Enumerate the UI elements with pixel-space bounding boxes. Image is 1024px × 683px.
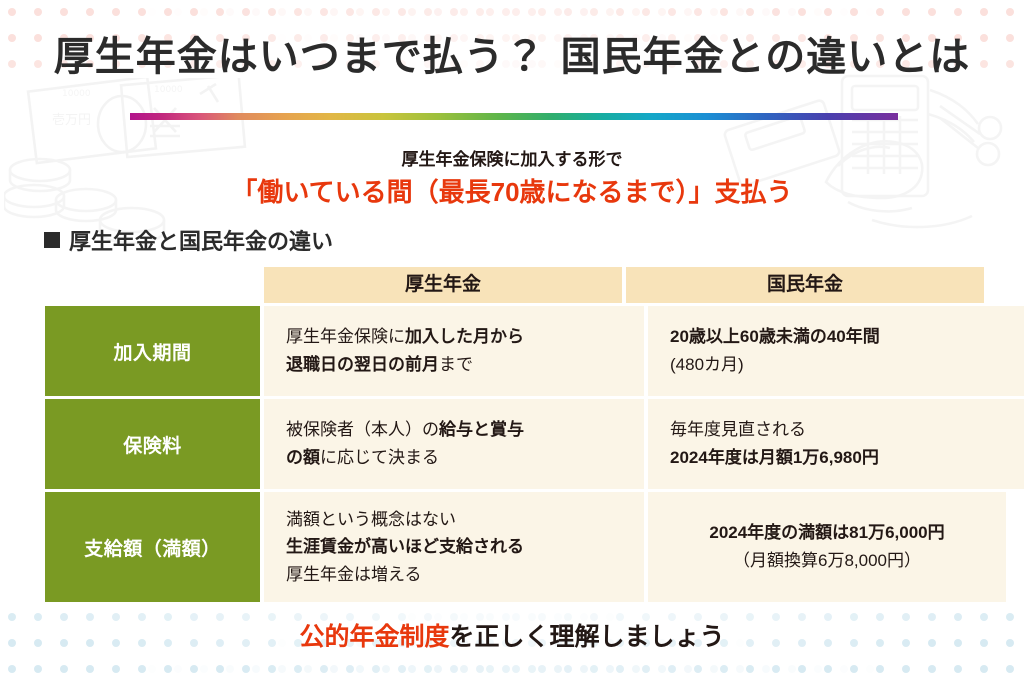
decorative-dot (684, 8, 692, 16)
rainbow-divider (130, 113, 898, 120)
decorative-dot (148, 665, 156, 673)
decorative-dot (954, 665, 962, 673)
decorative-dot (294, 665, 302, 673)
decorative-dot (460, 8, 468, 16)
decorative-dot (148, 8, 156, 16)
decorative-dot (668, 665, 676, 673)
decorative-dot (616, 665, 624, 673)
decorative-dot (434, 8, 442, 16)
decorative-dot (356, 665, 364, 673)
decorative-dot (866, 665, 874, 673)
decorative-dot (954, 8, 962, 16)
decorative-dot (138, 8, 146, 16)
decorative-dot (840, 665, 848, 673)
decorative-dot (538, 8, 546, 16)
decorative-dot (398, 665, 406, 673)
decorative-dot (450, 8, 458, 16)
decorative-dot (736, 665, 744, 673)
decorative-dot (112, 8, 120, 16)
decorative-dot (980, 665, 988, 673)
decorative-dot (382, 8, 390, 16)
lead-small-line: 厚生年金保険に加入する形で (0, 145, 1024, 170)
decorative-dot (502, 665, 510, 673)
decorative-dot (824, 665, 832, 673)
decorative-dot (424, 8, 432, 16)
decorative-dot (658, 665, 666, 673)
row-label-kanyu-kikan: 加入期間 (45, 306, 260, 396)
comparison-table: 厚生年金 国民年金 加入期間 厚生年金保険に加入した月から 退職日の翌日の前月ま… (45, 267, 980, 602)
decorative-dot (304, 665, 312, 673)
decorative-dot (772, 665, 780, 673)
decorative-dot (902, 8, 910, 16)
decorative-dot (850, 665, 858, 673)
decorative-dot (346, 8, 354, 16)
cell-text: に応じて決まる (320, 448, 439, 467)
cell-text-bold: 退職日の翌日の前月 (286, 355, 439, 374)
row-kosei-hokenryo: 被保険者（本人）の給与と賞与 の額に応じて決まる (264, 399, 644, 489)
decorative-dot (1006, 8, 1014, 16)
table-header-kokumin: 国民年金 (626, 267, 984, 303)
decorative-dot (528, 665, 536, 673)
decorative-dot (268, 665, 276, 673)
decorative-dot (60, 665, 68, 673)
decorative-dot (408, 665, 416, 673)
decorative-dot (486, 8, 494, 16)
decorative-dot (476, 665, 484, 673)
decorative-dot (928, 8, 936, 16)
cell-text: 厚生年金保険に (286, 327, 405, 346)
decorative-dot (330, 8, 338, 16)
decorative-dot (788, 665, 796, 673)
decorative-dot (590, 8, 598, 16)
cell-text-bold: 給与と賞与 (439, 420, 524, 439)
decorative-dot (330, 665, 338, 673)
decorative-dot (762, 8, 770, 16)
table-header-row: 厚生年金 国民年金 (45, 267, 980, 303)
decorative-dot (668, 8, 676, 16)
decorative-dot (86, 8, 94, 16)
decorative-dot (268, 8, 276, 16)
decorative-dot (606, 8, 614, 16)
decorative-dot (60, 8, 68, 16)
svg-text:10000: 10000 (62, 89, 91, 99)
decorative-dot (398, 8, 406, 16)
cell-text: 被保険者（本人）の (286, 420, 439, 439)
decorative-dot (528, 8, 536, 16)
cell-text-bold: 加入した月から (405, 327, 524, 346)
decorative-dot (554, 665, 562, 673)
square-bullet-icon (44, 232, 60, 248)
decorative-dot (850, 8, 858, 16)
decorative-dot (200, 8, 208, 16)
decorative-dot (772, 8, 780, 16)
decorative-dot (694, 665, 702, 673)
decorative-dot (460, 665, 468, 673)
decorative-dot (356, 8, 364, 16)
page-title-text: 厚生年金はいつまで払う？ 国民年金との違いとは (0, 34, 1024, 80)
decorative-dot (372, 665, 380, 673)
decorative-dot (798, 8, 806, 16)
row-kokumin-hokenryo: 毎年度見直される 2024年度は月額1万6,980円 (648, 399, 1024, 489)
decorative-dot (372, 8, 380, 16)
decorative-dot (34, 8, 42, 16)
decorative-dot (616, 8, 624, 16)
decorative-dot (512, 8, 520, 16)
section-heading-text: 厚生年金と国民年金の違い (69, 224, 333, 256)
decorative-dot (580, 8, 588, 16)
decorative-dot (216, 665, 224, 673)
decorative-dot (424, 665, 432, 673)
decorative-dot (762, 665, 770, 673)
cell-text: 満額という概念はない (286, 510, 456, 529)
decorative-dot (34, 665, 42, 673)
decorative-dot (294, 8, 302, 16)
cell-text: 毎年度見直される (670, 420, 806, 439)
cell-text: 厚生年金は増える (286, 565, 422, 584)
row-label-shikyugaku: 支給額（満額） (45, 492, 260, 602)
footer-highlight: 公的年金制度 (299, 623, 449, 651)
cell-text-bold: 2024年度は月額1万6,980円 (670, 448, 879, 467)
decorative-dot (320, 665, 328, 673)
decorative-dot (216, 8, 224, 16)
row-kosei-shikyugaku: 満額という概念はない 生涯賃金が高いほど支給される 厚生年金は増える (264, 492, 644, 602)
decorative-dot (190, 665, 198, 673)
decorative-dot (632, 8, 640, 16)
cell-text-bold: 20歳以上60歳未満の40年間 (670, 327, 880, 346)
decorative-dot (632, 665, 640, 673)
decorative-dot (538, 665, 546, 673)
decorative-dot (876, 8, 884, 16)
cell-text-bold: 生涯賃金が高いほど支給される (286, 537, 524, 556)
row-label-hokenryo: 保険料 (45, 399, 260, 489)
decorative-dot (226, 8, 234, 16)
decorative-dot (1006, 665, 1014, 673)
decorative-dot (814, 8, 822, 16)
decorative-dot (590, 665, 598, 673)
decorative-dot (486, 665, 494, 673)
decorative-dot (580, 665, 588, 673)
decorative-dot (252, 665, 260, 673)
decorative-dot (476, 8, 484, 16)
decorative-dot (642, 665, 650, 673)
svg-text:壱万円: 壱万円 (52, 113, 91, 128)
decorative-dot (164, 665, 172, 673)
table-row: 加入期間 厚生年金保険に加入した月から 退職日の翌日の前月まで 20歳以上60歳… (45, 306, 980, 396)
table-header-kosei: 厚生年金 (264, 267, 622, 303)
decorative-dot (450, 665, 458, 673)
footer-rest: を正しく理解しましょう (450, 623, 725, 651)
decorative-dot (8, 8, 16, 16)
decorative-dot (554, 8, 562, 16)
row-kokumin-shikyugaku: 2024年度の満額は81万6,000円 （月額換算6万8,000円） (648, 492, 1006, 602)
row-kokumin-kanyu-kikan: 20歳以上60歳未満の40年間 (480カ月) (648, 306, 1024, 396)
decorative-dot (814, 665, 822, 673)
decorative-dot (138, 665, 146, 673)
decorative-dot (720, 665, 728, 673)
decorative-dot (252, 8, 260, 16)
decorative-dot (710, 8, 718, 16)
cell-text: (480カ月) (670, 355, 744, 374)
decorative-dot (642, 8, 650, 16)
decorative-dot (710, 665, 718, 673)
decorative-dot (902, 665, 910, 673)
decorative-dot (564, 665, 572, 673)
decorative-dot (512, 665, 520, 673)
decorative-dot (564, 8, 572, 16)
lead-big-line: 「働いている間（最長70歳になるまで）」支払う (0, 172, 1024, 209)
decorative-dot (658, 8, 666, 16)
table-row: 保険料 被保険者（本人）の給与と賞与 の額に応じて決まる 毎年度見直される 20… (45, 399, 980, 489)
page-title: 厚生年金はいつまで払う？ 国民年金との違いとは (0, 34, 1024, 80)
svg-text:10000: 10000 (154, 85, 183, 95)
decorative-dot (824, 8, 832, 16)
decorative-dot (788, 8, 796, 16)
decorative-dot (720, 8, 728, 16)
decorative-dot (746, 8, 754, 16)
table-header-blank (45, 267, 260, 303)
cell-text-bold: の額 (286, 448, 320, 467)
decorative-dot (242, 8, 250, 16)
decorative-dot (278, 8, 286, 16)
decorative-dot (200, 665, 208, 673)
decorative-dot (164, 8, 172, 16)
decorative-dot (684, 665, 692, 673)
decorative-dot (980, 8, 988, 16)
decorative-dot (226, 665, 234, 673)
cell-text-bold: 2024年度の満額は81万6,000円 (709, 523, 944, 542)
decorative-dot (866, 8, 874, 16)
decorative-dot (928, 665, 936, 673)
decorative-dot (876, 665, 884, 673)
cell-text: （月額換算6万8,000円） (733, 551, 921, 570)
decorative-dot (242, 665, 250, 673)
decorative-dot (746, 665, 754, 673)
infographic-page: 壱万円 10000 10000 厚生年金はいつまで払う？ 国民年金との違いとは … (0, 0, 1024, 683)
decorative-dot (112, 665, 120, 673)
decorative-dot (408, 8, 416, 16)
decorative-dot (174, 665, 182, 673)
decorative-dot (8, 665, 16, 673)
cell-text: まで (439, 355, 473, 374)
decorative-dot (346, 665, 354, 673)
decorative-dot (190, 8, 198, 16)
decorative-dot (606, 665, 614, 673)
decorative-dot (86, 665, 94, 673)
decorative-dot (798, 665, 806, 673)
row-kosei-kanyu-kikan: 厚生年金保険に加入した月から 退職日の翌日の前月まで (264, 306, 644, 396)
decorative-dot (382, 665, 390, 673)
decorative-dot (174, 8, 182, 16)
decorative-dot (502, 8, 510, 16)
decorative-dot (694, 8, 702, 16)
decorative-dot (840, 8, 848, 16)
footer-message: 公的年金制度を正しく理解しましょう (0, 617, 1024, 653)
decorative-dot (304, 8, 312, 16)
decorative-dot (434, 665, 442, 673)
decorative-dot (320, 8, 328, 16)
decorative-dot (736, 8, 744, 16)
section-heading: 厚生年金と国民年金の違い (44, 224, 333, 256)
table-row: 支給額（満額） 満額という概念はない 生涯賃金が高いほど支給される 厚生年金は増… (45, 492, 980, 602)
decorative-dot (278, 665, 286, 673)
